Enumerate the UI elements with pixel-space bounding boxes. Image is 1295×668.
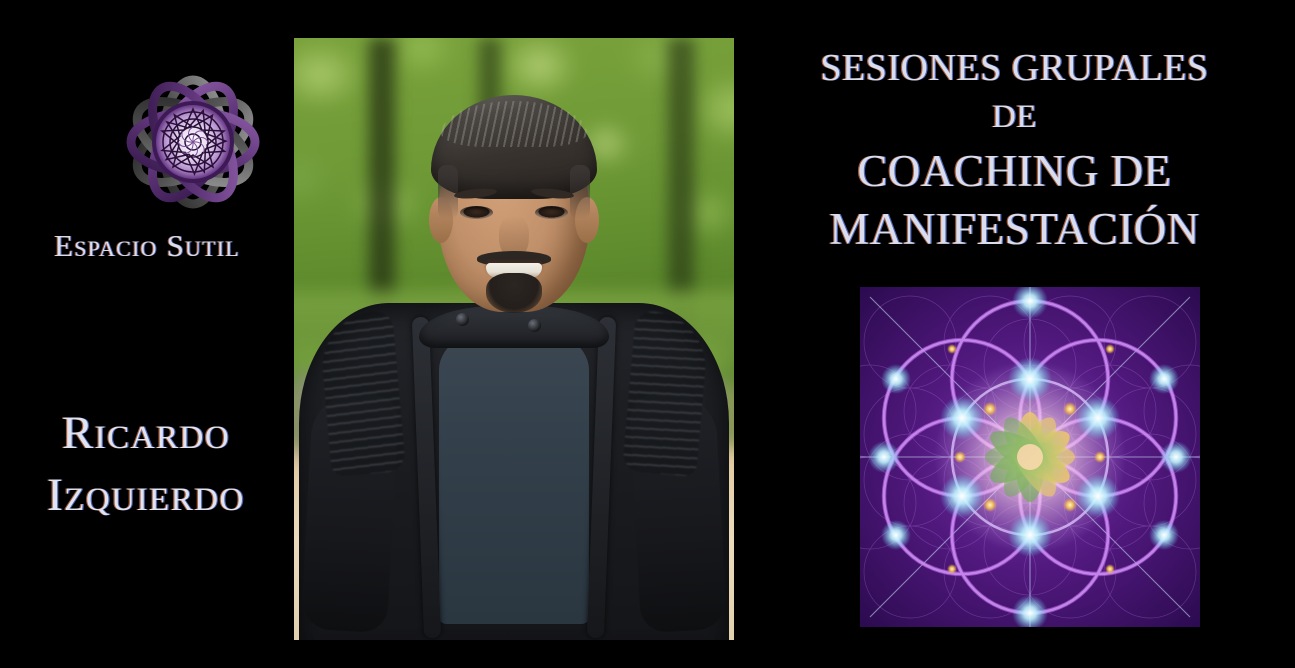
jacket-placket-right <box>587 317 616 639</box>
photo-subject <box>294 38 734 640</box>
jacket-rib-panel-right <box>622 310 710 476</box>
presenter-name: Ricardo Izquierdo <box>0 402 292 526</box>
subject-eye-right <box>535 206 568 219</box>
presenter-last-name: Izquierdo <box>0 464 292 526</box>
brand-name: Espacio Sutil <box>0 228 294 264</box>
headline-block: SESIONES GRUPALES DE COACHING DE MANIFES… <box>734 44 1295 258</box>
subject-head <box>438 107 590 312</box>
celtic-knot-mandala-logo-icon <box>107 56 279 228</box>
jacket-rib-panel-left <box>318 310 406 476</box>
headline-column: SESIONES GRUPALES DE COACHING DE MANIFES… <box>734 0 1295 668</box>
jacket-snap-right <box>528 319 541 332</box>
jacket-placket-left <box>412 317 441 639</box>
headline-line-4: MANIFESTACIÓN <box>734 200 1295 258</box>
subject-sideburn-left <box>438 165 458 219</box>
subject-eye-left <box>460 206 493 219</box>
flower-of-life-mandala-icon <box>860 287 1200 627</box>
subject-tshirt <box>439 324 589 624</box>
subject-goatee <box>486 273 542 313</box>
subject-sideburn-right <box>570 165 590 219</box>
subject-jacket <box>299 303 729 640</box>
presenter-photo <box>294 38 734 640</box>
brand-column: Espacio Sutil Ricardo Izquierdo <box>0 0 294 668</box>
presenter-first-name: Ricardo <box>0 402 292 464</box>
headline-line-2: DE <box>734 92 1295 142</box>
promo-banner: Espacio Sutil Ricardo Izquierdo <box>0 0 1295 668</box>
jacket-snap-left <box>456 313 469 326</box>
headline-line-3: COACHING DE <box>734 142 1295 200</box>
headline-line-1: SESIONES GRUPALES <box>734 44 1295 92</box>
